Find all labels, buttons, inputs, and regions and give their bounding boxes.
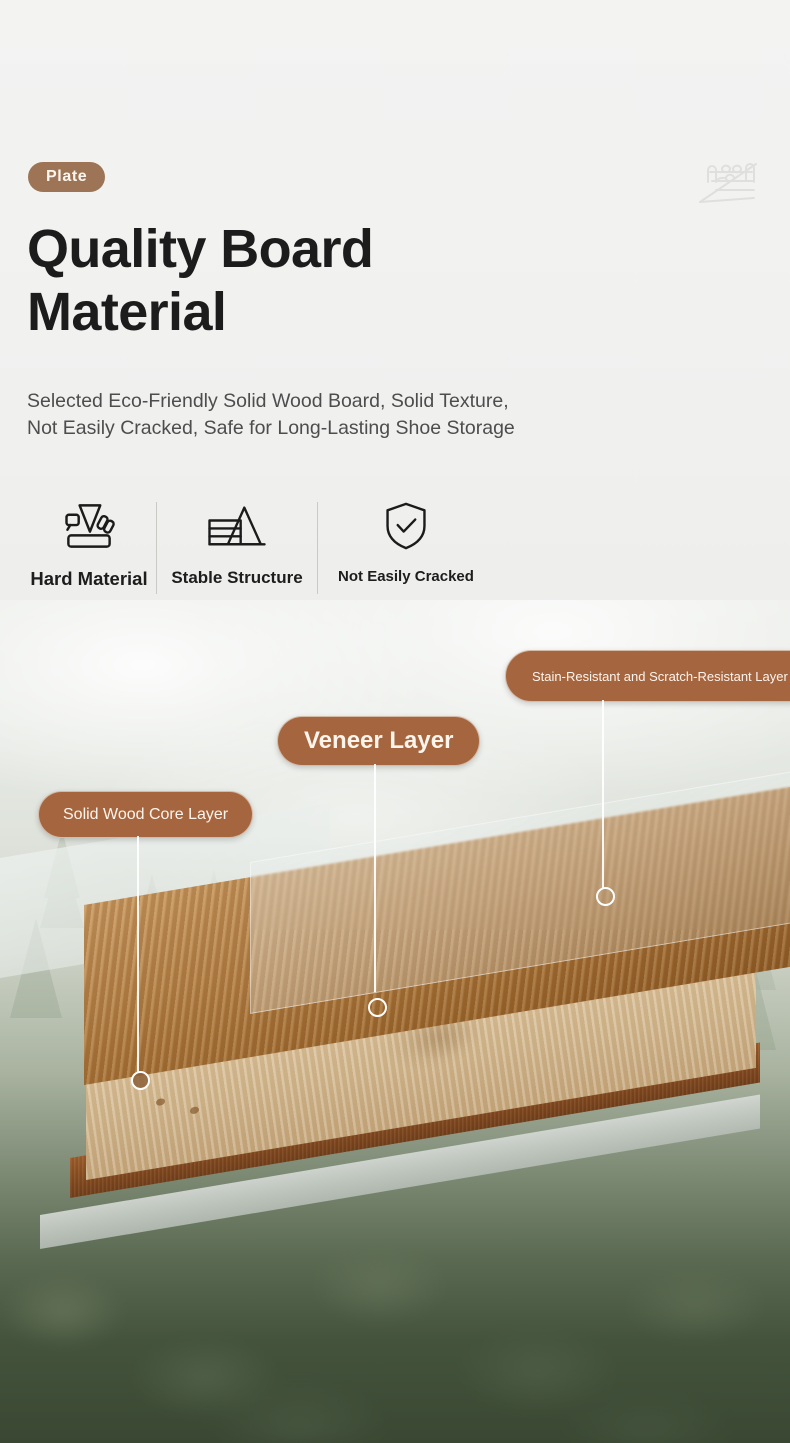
feature-label: Stable Structure [171,568,302,588]
callout-leader-line [602,700,604,888]
feature-list: Hard Material Stable Structure [22,498,502,598]
callout-anchor-dot [368,998,387,1017]
feature-label: Hard Material [30,568,147,590]
category-badge: Plate [28,162,105,192]
callout-anchor-dot [596,887,615,906]
callout-leader-line [137,836,139,1072]
callout-leader-line [374,764,376,992]
wedge-impact-icon [59,498,119,554]
page-subtitle: Selected Eco-Friendly Solid Wood Board, … [27,388,537,442]
page-title: Quality Board Material [27,218,547,344]
feature-item-stable-structure: Stable Structure [157,498,317,588]
callout-veneer-layer: Veneer Layer [277,716,480,766]
callout-solid-wood-core-layer: Solid Wood Core Layer [38,791,253,838]
header-section: Plate Quality Board Material Selected Ec… [0,0,790,600]
layered-stack-triangle-icon [204,498,270,554]
feature-item-not-easily-cracked: Not Easily Cracked [318,498,494,585]
product-feature-page: Plate Quality Board Material Selected Ec… [0,0,790,1443]
page-title-line1: Quality Board [27,218,547,281]
shoe-rack-icon [696,152,762,214]
callout-stain-resistant-layer: Stain-Resistant and Scratch-Resistant La… [505,650,790,702]
shield-check-icon [382,498,430,554]
feature-item-hard-material: Hard Material [22,498,156,590]
page-title-line2: Material [27,281,547,344]
feature-label: Not Easily Cracked [338,568,474,585]
callout-anchor-dot [131,1071,150,1090]
